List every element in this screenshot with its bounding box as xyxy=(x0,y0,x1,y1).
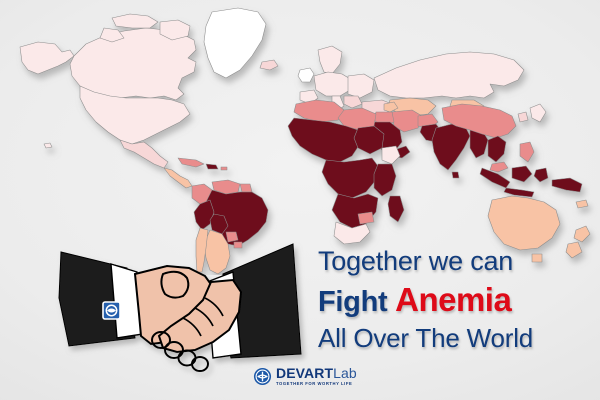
country-east-africa xyxy=(374,164,396,196)
country-mexico xyxy=(120,140,168,168)
world-map xyxy=(0,0,600,275)
country-sri-lanka xyxy=(452,172,459,178)
devartlab-tagline: TOGETHER FOR WORTHY LIFE xyxy=(276,382,357,386)
country-australia xyxy=(488,196,560,250)
headline-anemia-word: Anemia xyxy=(395,281,511,318)
country-indonesia-sulawesi xyxy=(534,168,548,182)
country-canada-arctic xyxy=(112,14,158,28)
devartlab-logo[interactable]: DEVARTLab TOGETHER FOR WORTHY LIFE xyxy=(253,366,357,386)
country-new-zealand xyxy=(574,226,590,242)
headline-fight-word: Fight xyxy=(318,286,395,318)
country-hispaniola xyxy=(206,164,218,169)
headline-line-1: Together we can xyxy=(318,248,590,275)
country-india xyxy=(432,124,470,170)
country-new-caledonia xyxy=(576,200,588,208)
country-papua-new-guinea xyxy=(552,178,582,192)
world-map-svg xyxy=(0,0,600,275)
devartlab-emblem-icon xyxy=(253,367,272,386)
country-eastern-europe xyxy=(348,74,374,98)
country-russia xyxy=(374,52,524,98)
headline-line-3: All Over The World xyxy=(318,325,590,351)
country-greenland xyxy=(204,8,266,78)
country-western-europe xyxy=(314,72,352,96)
left-thumb xyxy=(161,272,188,298)
country-madagascar xyxy=(388,196,404,222)
country-indonesia-borneo xyxy=(512,166,532,182)
country-hawaii xyxy=(44,143,52,148)
country-central-africa xyxy=(322,158,378,198)
headline-block: Together we can Fight Anemia All Over Th… xyxy=(318,248,590,351)
devartlab-name: DEVARTLab xyxy=(276,366,357,380)
country-puerto-rico xyxy=(221,167,227,170)
country-iceland xyxy=(260,60,278,70)
headline-line-2: Fight Anemia xyxy=(318,283,590,317)
country-malaysia xyxy=(490,162,508,172)
country-japan xyxy=(530,104,546,122)
country-guyanas xyxy=(240,184,252,192)
devartlab-name-light: Lab xyxy=(333,365,357,381)
country-indonesia-java xyxy=(504,188,534,197)
country-central-america xyxy=(164,168,192,188)
country-sudan-chad xyxy=(354,126,384,154)
country-cuba xyxy=(178,158,204,167)
country-thailand-vietnam xyxy=(488,136,506,162)
country-zimbabwe xyxy=(358,212,374,224)
country-uk-ireland xyxy=(298,68,314,82)
country-alaska xyxy=(20,42,74,74)
country-philippines xyxy=(520,142,534,162)
country-scandinavia xyxy=(318,46,342,74)
country-ethiopia xyxy=(382,146,400,164)
devartlab-name-bold: DEVART xyxy=(276,365,333,381)
devartlab-logo-text: DEVARTLab TOGETHER FOR WORTHY LIFE xyxy=(276,366,357,386)
anemia-awareness-poster: Together we can Fight Anemia All Over Th… xyxy=(0,0,600,400)
country-korea xyxy=(518,112,528,122)
